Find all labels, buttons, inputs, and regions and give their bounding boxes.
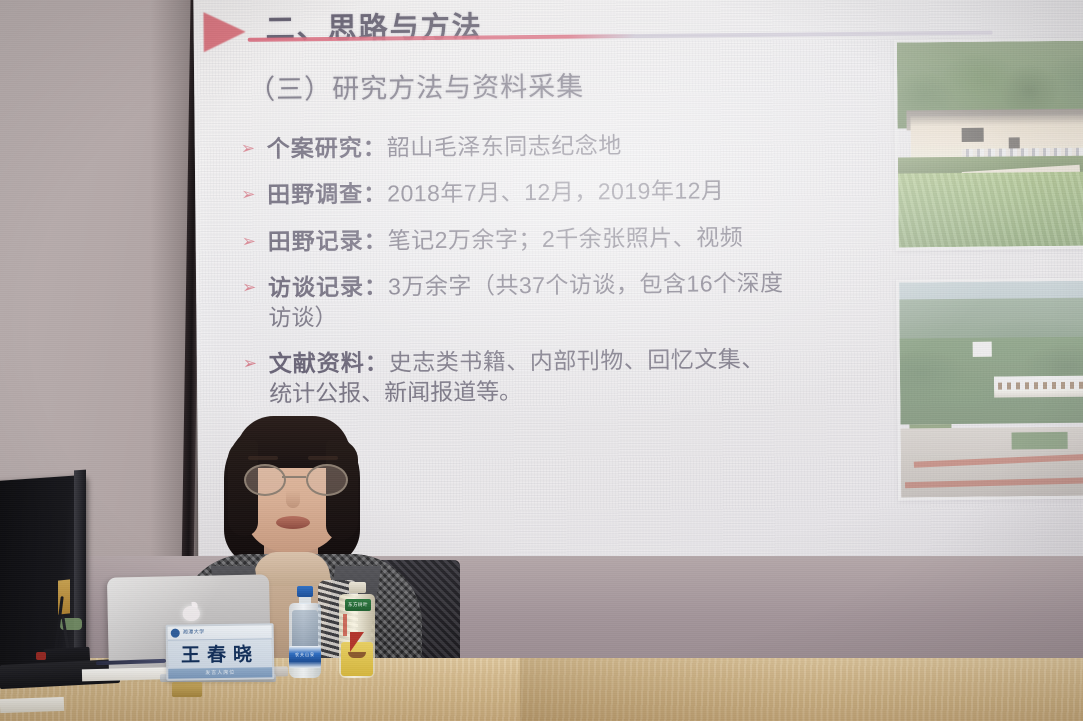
red-accessory xyxy=(36,652,46,660)
apple-body xyxy=(183,606,200,621)
triangle-bullet-icon xyxy=(203,12,245,52)
bullet-rest: 韶山毛泽东同志纪念地 xyxy=(387,132,622,160)
glasses-bridge xyxy=(282,476,306,478)
bullet-rest: 史志类书籍、内部刊物、回忆文集、 xyxy=(389,346,765,376)
name-card-header: 湘潭大学 xyxy=(168,625,272,640)
bullet-wrap-line: 访谈） xyxy=(268,297,942,333)
photo-window xyxy=(962,128,984,143)
name-card-institution: 湘潭大学 xyxy=(183,628,205,635)
bottle-neck xyxy=(299,596,311,604)
label-stripe xyxy=(343,614,347,636)
name-card: 湘潭大学 王春晓 发言人席位 xyxy=(166,623,275,681)
photo-lotus-field xyxy=(898,172,1083,248)
lens-left xyxy=(244,464,286,496)
name-card-footer: 发言人席位 xyxy=(168,667,272,678)
bullet-sep: ： xyxy=(363,134,387,160)
apple-logo-icon xyxy=(183,602,200,621)
bullet-item: ➢ 访谈记录：3万余字（共37个访谈，包含16个深度 访谈） xyxy=(242,267,943,333)
photo-small-building xyxy=(972,342,991,357)
arrow-bullet-icon: ➢ xyxy=(241,186,259,204)
screenshot-root: 二、思路与方法 （三）研究方法与资料采集 ➢ 个案研究：韶山毛泽东同志纪念地 ➢… xyxy=(0,0,1083,721)
bullet-lead: 田野记录 xyxy=(268,228,364,255)
bottle-cap xyxy=(349,582,366,593)
desk-card xyxy=(0,697,64,713)
mouth xyxy=(276,516,310,529)
sailboat-graphic xyxy=(348,632,366,658)
bullet-text: 个案研究：韶山毛泽东同志纪念地 xyxy=(267,132,622,161)
bottle-label-text: 农夫山泉 xyxy=(291,652,319,658)
photo-greenery xyxy=(1012,431,1068,449)
usb-drive[interactable] xyxy=(172,682,202,697)
bullet-text: 田野调查：2018年7月、12月，2019年12月 xyxy=(267,178,725,208)
eyebrow-left xyxy=(248,456,278,460)
monitor-bezel xyxy=(74,470,86,676)
bullet-lead: 文献资料 xyxy=(269,350,365,377)
arrow-bullet-icon: ➢ xyxy=(242,279,260,297)
slide-photo-farmhouse xyxy=(894,37,1083,250)
bullet-text: 文献资料：史志类书籍、内部刊物、回忆文集、 xyxy=(269,346,765,377)
bullet-rest: 2018年7月、12月，2019年12月 xyxy=(387,178,725,207)
bullet-sep: ： xyxy=(364,227,388,253)
bullet-sep: ： xyxy=(364,274,388,300)
slide-photo-memorial xyxy=(896,277,1083,500)
name-card-name: 王春晓 xyxy=(168,639,272,667)
nose xyxy=(286,490,300,508)
bullet-sep: ： xyxy=(365,350,389,376)
bullet-lead: 个案研究 xyxy=(267,135,363,162)
bullet-rest: 笔记2万余字；2千余张照片、视频 xyxy=(388,224,744,253)
hull xyxy=(348,652,366,658)
slide-subtitle: （三）研究方法与资料采集 xyxy=(248,65,584,107)
bullet-item: ➢ 田野记录：笔记2万余字；2千余张照片、视频 xyxy=(242,221,942,257)
arrow-bullet-icon: ➢ xyxy=(242,233,260,251)
tea-bottle[interactable]: 东方树叶 xyxy=(338,582,376,678)
lens-right xyxy=(306,464,348,496)
university-logo-icon xyxy=(171,629,180,638)
slide-bullet-list: ➢ 个案研究：韶山毛泽东同志纪念地 ➢ 田野调查：2018年7月、12月，201… xyxy=(241,128,944,426)
bottle-label-text: 东方树叶 xyxy=(345,601,371,609)
bullet-lead: 访谈记录 xyxy=(268,274,364,301)
bullet-item: ➢ 文献资料：史志类书籍、内部刊物、回忆文集、 统计公报、新闻报道等。 xyxy=(243,343,944,409)
bullet-sep: ： xyxy=(363,181,387,207)
bullet-lead: 田野调查 xyxy=(267,181,363,208)
eyebrow-right xyxy=(308,456,338,460)
table-shadow xyxy=(520,658,820,721)
water-bottle[interactable]: 农夫山泉 xyxy=(288,586,322,678)
bullet-text: 田野记录：笔记2万余字；2千余张照片、视频 xyxy=(268,224,744,255)
bullet-item: ➢ 田野调查：2018年7月、12月，2019年12月 xyxy=(241,175,941,211)
arrow-bullet-icon: ➢ xyxy=(241,140,259,158)
slide-title-row: 二、思路与方法 xyxy=(203,1,903,52)
bottle-cap xyxy=(297,586,313,597)
arrow-bullet-icon: ➢ xyxy=(243,355,261,373)
eyeglasses xyxy=(242,464,346,492)
photo-building-windows xyxy=(998,382,1083,390)
sail xyxy=(350,632,364,652)
bullet-rest: 3万余字（共37个访谈，包含16个深度 xyxy=(388,270,784,300)
bullet-text: 访谈记录：3万余字（共37个访谈，包含16个深度 xyxy=(268,270,784,301)
bullet-item: ➢ 个案研究：韶山毛泽东同志纪念地 xyxy=(241,128,941,164)
